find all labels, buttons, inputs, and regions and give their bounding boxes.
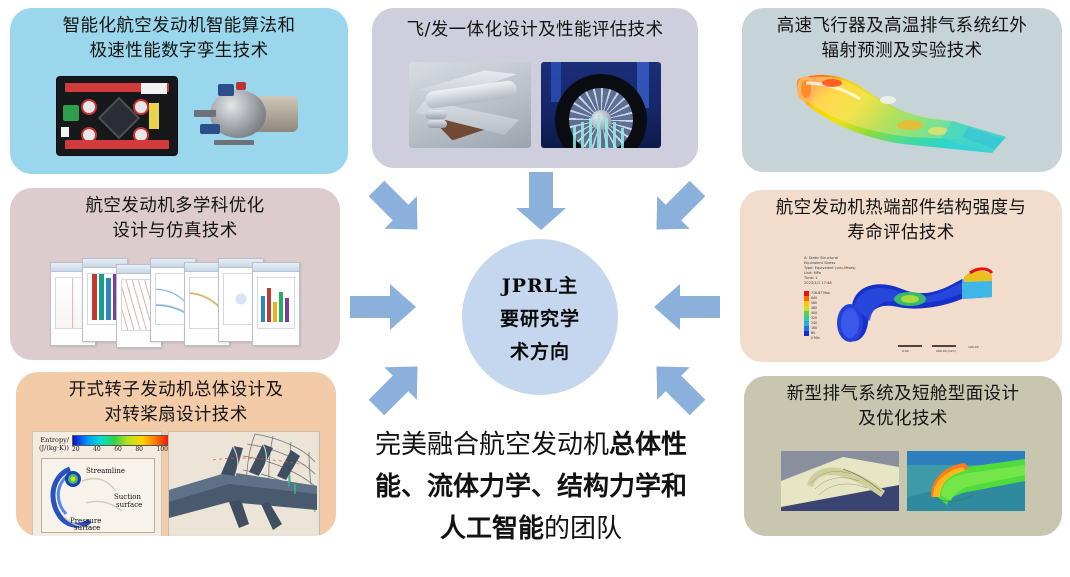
aircraft-model-photo <box>409 62 531 148</box>
title-line: 飞/发一体化设计及性能评估技术 <box>380 18 690 43</box>
svg-text:0 Min: 0 Min <box>811 336 820 340</box>
card-artwork <box>752 435 1054 528</box>
nozzle-contour-svg <box>792 67 1012 159</box>
card-artwork <box>18 67 340 166</box>
card-airframe-engine-integration[interactable]: 飞/发一体化设计及性能评估技术 <box>372 8 698 168</box>
turbofan-inlet-photo <box>541 62 661 148</box>
tick: 60 <box>114 446 122 453</box>
title-line: 对转桨扇设计技术 <box>24 403 328 428</box>
center-hub[interactable]: JPRL主 要研究学 术方向 <box>462 239 618 395</box>
card-title: 高速飞行器及高温排气系统红外 辐射预测及实验技术 <box>750 14 1054 64</box>
card-artwork <box>380 51 690 160</box>
card-exhaust-nacelle-design[interactable]: 新型排气系统及短舱型面设计 及优化技术 <box>744 376 1062 536</box>
svg-text:2023/1/1 17:48: 2023/1/1 17:48 <box>804 281 832 285</box>
stress-plot-svg: A: Static Structural Equivalent Stress T… <box>786 249 1014 357</box>
card-artwork <box>750 67 1054 164</box>
svg-text:160: 160 <box>811 326 817 330</box>
diagram-canvas: 智能化航空发动机智能算法和 极速性能数字孪生技术 <box>0 0 1070 577</box>
vortex-streamline-svg: Streamline Suction surface Pressure surf… <box>42 459 155 531</box>
arrow-bottom-right <box>642 356 712 418</box>
entropy-legend-units: (J/(kg·K)) <box>39 444 69 452</box>
card-artwork <box>18 247 332 352</box>
svg-text:480: 480 <box>811 306 817 310</box>
slogan-seg-bold: 能、流体力学、结构力学和 <box>375 472 687 502</box>
svg-text:Unit: MPa: Unit: MPa <box>804 271 821 275</box>
team-slogan: 完美融合航空发动机总体性 能、流体力学、结构力学和 人工智能的团队 <box>330 424 732 550</box>
slogan-seg: 的团队 <box>544 514 622 544</box>
arrow-bottom-left <box>362 356 432 418</box>
fe-stress-contour: A: Static Structural Equivalent Stress T… <box>786 249 1016 359</box>
card-title: 飞/发一体化设计及性能评估技术 <box>380 14 690 43</box>
svg-text:Equivalent Stress: Equivalent Stress <box>804 261 835 265</box>
tick: 20 <box>72 446 80 453</box>
svg-text:surface: surface <box>116 501 142 509</box>
title-line: 极速性能数字孪生技术 <box>18 39 340 64</box>
card-title: 航空发动机热端部件结构强度与 寿命评估技术 <box>748 196 1054 246</box>
svg-text:240: 240 <box>811 321 817 325</box>
propfan-svg <box>169 432 317 534</box>
card-title: 智能化航空发动机智能算法和 极速性能数字孪生技术 <box>18 14 340 64</box>
card-hot-section-strength-life[interactable]: 航空发动机热端部件结构强度与 寿命评估技术 A: Static Structur… <box>740 190 1062 362</box>
title-line: 及优化技术 <box>752 407 1054 432</box>
svg-text:100.00: 100.00 <box>968 345 979 349</box>
svg-text:0.00: 0.00 <box>902 349 909 353</box>
card-title: 新型排气系统及短舱型面设计 及优化技术 <box>752 382 1054 432</box>
title-line: 寿命评估技术 <box>748 221 1054 246</box>
card-artwork: Entropy/ (J/(kg·K)) 20 40 60 80 100 <box>24 431 328 536</box>
entropy-colorbar <box>72 435 170 446</box>
svg-text:716.87 Max: 716.87 Max <box>811 291 830 295</box>
slogan-line-3: 人工智能的团队 <box>330 508 732 550</box>
svg-text:400: 400 <box>811 311 817 315</box>
title-line: 航空发动机热端部件结构强度与 <box>748 196 1054 221</box>
card-intelligent-algorithms[interactable]: 智能化航空发动机智能算法和 极速性能数字孪生技术 <box>10 8 348 174</box>
fe-header-line: A: Static Structural <box>804 256 838 260</box>
svg-text:640: 640 <box>811 296 817 300</box>
cfd-svg <box>907 451 1025 511</box>
tick: 100 <box>156 446 167 453</box>
entropy-ticks: 20 40 60 80 100 <box>72 446 168 453</box>
mesh-svg <box>781 451 899 511</box>
nozzle-temperature-contour <box>792 67 1012 163</box>
stress-colorbar: 716.87 Max640 560480 400320 240160 800 M… <box>804 291 830 340</box>
turboshaft-engine-photo <box>184 80 302 152</box>
entropy-legend-label: Entropy/ <box>39 436 69 444</box>
tick: 40 <box>93 446 101 453</box>
svg-text:200.00 (mm): 200.00 (mm) <box>936 349 956 353</box>
title-line: 智能化航空发动机智能算法和 <box>18 14 340 39</box>
card-artwork: A: Static Structural Equivalent Stress T… <box>748 249 1054 359</box>
card-open-rotor-design[interactable]: 开式转子发动机总体设计及 对转桨扇设计技术 Entropy/ (J/(kg·K)… <box>16 372 336 536</box>
slogan-seg: 完美融合航空发动机 <box>375 430 609 460</box>
svg-text:Type: Equivalent (von-Mises): Type: Equivalent (von-Mises) <box>803 266 856 270</box>
card-multidisciplinary-optimization[interactable]: 航空发动机多学科优化 设计与仿真技术 <box>10 188 340 360</box>
slogan-line-1: 完美融合航空发动机总体性 <box>330 424 732 466</box>
title-line: 新型排气系统及短舱型面设计 <box>752 382 1054 407</box>
title-line: 高速飞行器及高温排气系统红外 <box>750 14 1054 39</box>
title-line: 辐射预测及实验技术 <box>750 39 1054 64</box>
tick: 80 <box>135 446 143 453</box>
svg-text:80: 80 <box>811 331 815 335</box>
circuit-board-photo <box>56 76 178 156</box>
card-title: 航空发动机多学科优化 设计与仿真技术 <box>18 194 332 244</box>
svg-text:560: 560 <box>811 301 817 305</box>
nacelle-surface-mesh <box>781 451 899 511</box>
arrow-top-left <box>362 178 432 240</box>
title-line: 航空发动机多学科优化 <box>18 194 332 219</box>
svg-text:320: 320 <box>811 316 817 320</box>
streamline-label: Streamline <box>86 467 125 475</box>
suction-label: Suction <box>114 493 141 501</box>
svg-text:Time: 1: Time: 1 <box>803 276 817 280</box>
slogan-seg-bold: 总体性 <box>609 430 687 460</box>
title-line: 开式转子发动机总体设计及 <box>24 378 328 403</box>
svg-text:surface: surface <box>74 524 100 531</box>
slogan-seg-bold: 人工智能 <box>440 514 544 544</box>
nacelle-cfd-contour <box>907 451 1025 511</box>
arrow-top-right <box>642 178 712 240</box>
arrow-top <box>510 168 572 234</box>
arrow-left <box>348 280 418 334</box>
propfan-blade-geometry <box>168 431 320 536</box>
slogan-line-2: 能、流体力学、结构力学和 <box>330 466 732 508</box>
simulation-windows-montage <box>50 256 300 342</box>
title-line: 设计与仿真技术 <box>18 219 332 244</box>
hub-line-1: JPRL主 <box>502 271 578 298</box>
hub-line-3: 术方向 <box>510 337 570 364</box>
hub-line-2: 要研究学 <box>500 304 580 331</box>
arrow-right <box>652 280 722 334</box>
card-infrared-radiation-prediction[interactable]: 高速飞行器及高温排气系统红外 辐射预测及实验技术 <box>742 8 1062 172</box>
entropy-contour-plot: Entropy/ (J/(kg·K)) 20 40 60 80 100 <box>32 431 162 536</box>
card-title: 开式转子发动机总体设计及 对转桨扇设计技术 <box>24 378 328 428</box>
